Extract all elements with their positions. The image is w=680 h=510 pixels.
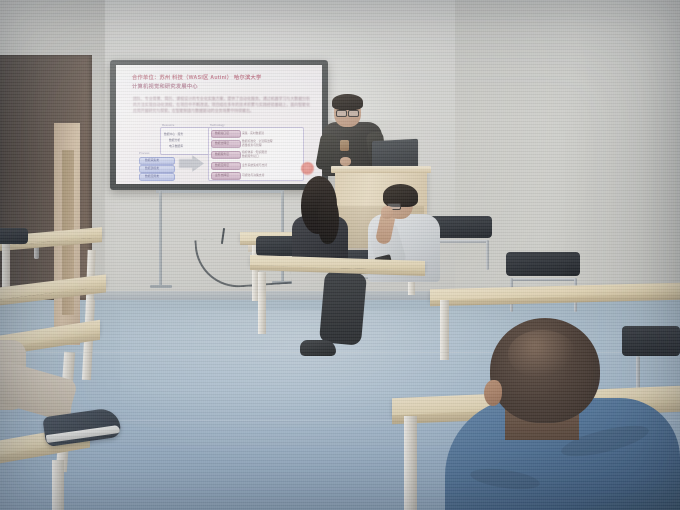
attendee-ear xyxy=(484,380,502,406)
student-desk-leg xyxy=(404,416,417,510)
presenter-shirt-detail xyxy=(340,140,349,151)
chair-support-bar xyxy=(510,278,576,281)
display-screen: 合作单位：苏州 科技（WASI区 Autini） 哈尔滨大学 计算机视觉和研究发… xyxy=(116,65,322,184)
student-desk-leg xyxy=(52,460,64,510)
podium-top-surface xyxy=(331,166,431,173)
student-chair[interactable] xyxy=(0,228,28,244)
attendee-shoe xyxy=(300,340,336,356)
attendee-hair-strand xyxy=(318,196,339,244)
student-desk-leg xyxy=(258,272,266,334)
display-stand-foot xyxy=(150,285,172,288)
hair-highlight xyxy=(508,330,576,378)
student-chair[interactable] xyxy=(506,252,580,276)
screen-glare xyxy=(116,65,322,184)
glasses-icon xyxy=(348,110,359,117)
glasses-icon xyxy=(336,110,347,117)
classroom-photograph: 合作单位：苏州 科技（WASI区 Autini） 哈尔滨大学 计算机视觉和研究发… xyxy=(0,0,680,510)
presenter-hair xyxy=(332,94,363,110)
display-stand-crossbar xyxy=(156,190,284,193)
classroom-door[interactable] xyxy=(0,55,92,300)
presenter-hand xyxy=(340,157,351,166)
student-chair[interactable] xyxy=(622,326,680,356)
display-stand-leg xyxy=(159,191,162,287)
wall-display[interactable]: 合作单位：苏州 科技（WASI区 Autini） 哈尔滨大学 计算机视觉和研究发… xyxy=(110,60,328,190)
student-desk-leg xyxy=(440,300,449,360)
attendee-hand xyxy=(381,206,393,219)
attendee-leg xyxy=(319,270,367,345)
chair-leg xyxy=(486,240,489,270)
